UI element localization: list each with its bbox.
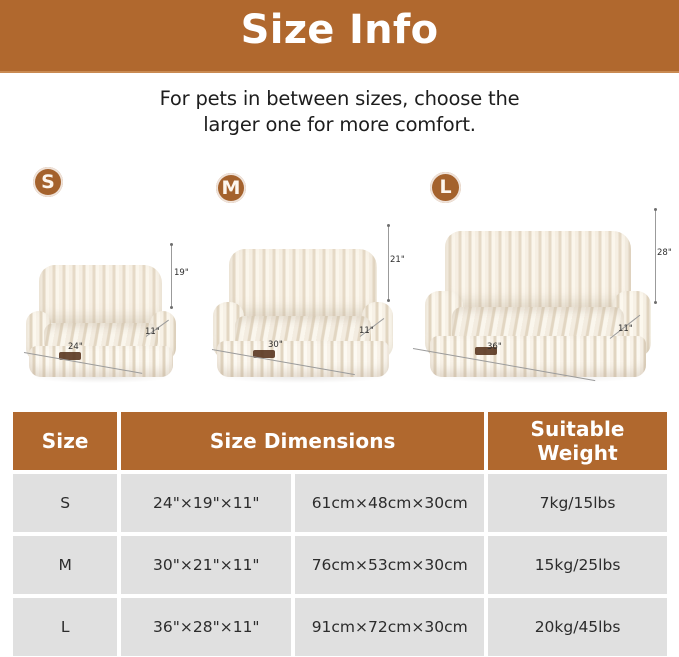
dim-line-height xyxy=(388,226,389,300)
dim-label-width-medium: 30" xyxy=(268,340,283,350)
page-title: Size Info xyxy=(0,7,679,53)
size-table: Size Size Dimensions Suitable Weight S 2… xyxy=(13,412,667,656)
cell-weight: 7kg/15lbs xyxy=(488,474,667,532)
size-badge-medium: M xyxy=(216,173,246,203)
table-header-weight: Suitable Weight xyxy=(488,412,667,470)
bed-front xyxy=(29,346,173,377)
subtitle: For pets in between sizes, choose the la… xyxy=(0,86,679,138)
header-band: Size Info xyxy=(0,0,679,73)
header-underline xyxy=(0,71,679,73)
table-row: L 36"×28"×11" 91cm×72cm×30cm 20kg/45lbs xyxy=(13,598,667,656)
table-header-size: Size xyxy=(13,412,117,470)
size-badge-small: S xyxy=(33,167,63,197)
cell-dim-inches: 36"×28"×11" xyxy=(121,598,291,656)
cell-size: S xyxy=(13,474,117,532)
size-badge-large: L xyxy=(430,172,461,203)
dim-label-width-small: 24" xyxy=(68,342,83,352)
pet-bed-illustration-small xyxy=(26,265,176,377)
bed-backrest xyxy=(229,249,377,316)
dim-dot-height-bottom xyxy=(170,306,173,309)
pet-bed-illustration-medium xyxy=(213,249,393,377)
dim-label-depth-medium: 11" xyxy=(359,326,374,336)
table-header-row: Size Size Dimensions Suitable Weight xyxy=(13,412,667,470)
dim-label-height-small: 19" xyxy=(174,268,189,278)
subtitle-line-2: larger one for more comfort. xyxy=(0,112,679,138)
dim-label-depth-small: 11" xyxy=(145,327,160,337)
dim-dot-height-top xyxy=(170,243,173,246)
product-showcase: 19" 24" 11" 21" 30" 11" xyxy=(0,150,679,395)
cell-dim-inches: 30"×21"×11" xyxy=(121,536,291,594)
product-image-small: 19" 24" 11" xyxy=(8,160,193,395)
bed-backrest xyxy=(39,265,162,323)
size-info-page: Size Info For pets in between sizes, cho… xyxy=(0,0,679,657)
cell-dim-cm: 91cm×72cm×30cm xyxy=(295,598,484,656)
cell-weight: 15kg/25lbs xyxy=(488,536,667,594)
dim-dot-height-bottom xyxy=(654,301,657,304)
cell-size: M xyxy=(13,536,117,594)
dim-label-width-large: 36" xyxy=(487,342,502,352)
table-row: M 30"×21"×11" 76cm×53cm×30cm 15kg/25lbs xyxy=(13,536,667,594)
cell-size: L xyxy=(13,598,117,656)
bed-front xyxy=(217,341,390,377)
table-header-dimensions: Size Dimensions xyxy=(121,412,484,470)
dim-line-height xyxy=(655,210,656,302)
dim-label-depth-large: 11" xyxy=(618,324,633,334)
cell-weight: 20kg/45lbs xyxy=(488,598,667,656)
dim-dot-height-top xyxy=(387,224,390,227)
cell-dim-inches: 24"×19"×11" xyxy=(121,474,291,532)
bed-backrest xyxy=(445,231,630,307)
dim-label-height-large: 28" xyxy=(657,248,672,258)
subtitle-line-1: For pets in between sizes, choose the xyxy=(0,86,679,112)
cell-dim-cm: 61cm×48cm×30cm xyxy=(295,474,484,532)
dim-line-height xyxy=(171,245,172,307)
dim-label-height-medium: 21" xyxy=(390,255,405,265)
dim-dot-height-bottom xyxy=(387,299,390,302)
cell-dim-cm: 76cm×53cm×30cm xyxy=(295,536,484,594)
dim-dot-height-top xyxy=(654,208,657,211)
table-row: S 24"×19"×11" 61cm×48cm×30cm 7kg/15lbs xyxy=(13,474,667,532)
